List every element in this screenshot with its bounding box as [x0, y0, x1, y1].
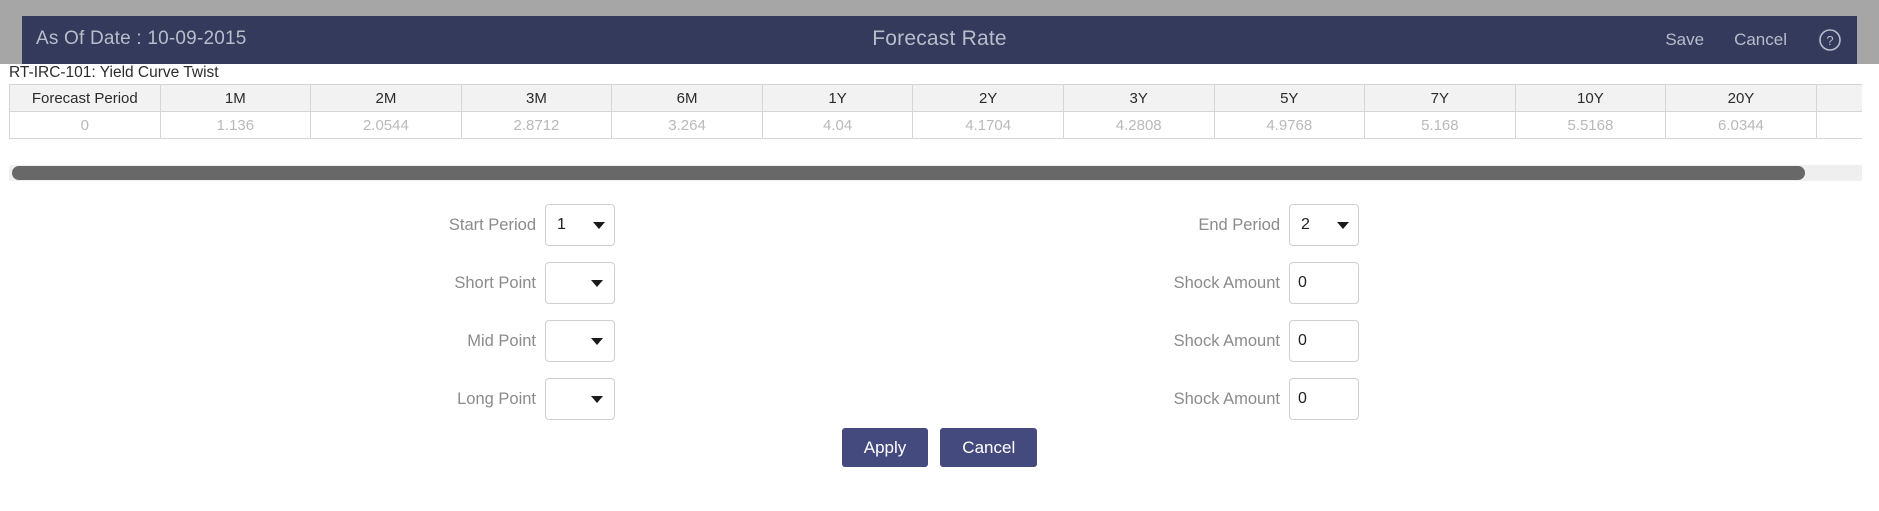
long-point-label: Long Point — [386, 390, 545, 409]
end-period-label: End Period — [1080, 216, 1289, 235]
cell-20y[interactable]: 6.0344 — [1666, 112, 1817, 139]
form-cancel-button[interactable]: Cancel — [940, 428, 1037, 467]
table-row[interactable]: 0 1.136 2.0544 2.8712 3.264 4.04 4.1704 … — [10, 112, 1863, 139]
chevron-down-icon — [591, 338, 603, 345]
shock-amount-mid-label: Shock Amount — [1080, 332, 1289, 351]
cell-5y[interactable]: 4.9768 — [1214, 112, 1365, 139]
table-header-row: Forecast Period 1M 2M 3M 6M 1Y 2Y 3Y 5Y … — [10, 85, 1863, 112]
rule-subtitle: RT-IRC-101: Yield Curve Twist — [9, 64, 219, 82]
save-button[interactable]: Save — [1665, 30, 1704, 50]
start-period-label: Start Period — [386, 216, 545, 235]
svg-text:?: ? — [1826, 33, 1833, 48]
field-row-shock-amount-long: Shock Amount — [1080, 370, 1359, 428]
field-row-end-period: End Period 2 — [1080, 196, 1359, 254]
shock-amount-mid-input[interactable] — [1298, 332, 1350, 350]
chevron-down-icon — [593, 222, 605, 229]
cell-7y[interactable]: 5.168 — [1365, 112, 1516, 139]
cell-3y[interactable]: 4.2808 — [1063, 112, 1214, 139]
short-point-select[interactable] — [545, 262, 615, 304]
column-header-1y: 1Y — [762, 85, 913, 112]
shock-amount-short-field[interactable] — [1289, 262, 1359, 304]
window-chrome-left — [0, 0, 22, 64]
field-row-long-point: Long Point — [386, 370, 615, 428]
cell-6m[interactable]: 3.264 — [612, 112, 763, 139]
end-period-value: 2 — [1301, 217, 1310, 233]
cell-1y[interactable]: 4.04 — [762, 112, 913, 139]
column-header-1m: 1M — [160, 85, 311, 112]
field-row-mid-point: Mid Point — [386, 312, 615, 370]
form-column-left: Start Period 1 Short Point Mid Point — [386, 196, 615, 428]
window-chrome-right — [1857, 0, 1879, 64]
column-header-20y: 20Y — [1666, 85, 1817, 112]
column-header-2m: 2M — [311, 85, 462, 112]
table-horizontal-scrollbar[interactable] — [9, 165, 1862, 181]
application-window: As Of Date : 10-09-2015 Forecast Rate Sa… — [0, 0, 1879, 511]
field-row-short-point: Short Point — [386, 254, 615, 312]
table-scrollbar-thumb[interactable] — [12, 166, 1805, 180]
start-period-select[interactable]: 1 — [545, 204, 615, 246]
title-bar-actions: Save Cancel ? — [1665, 16, 1843, 64]
shock-amount-short-label: Shock Amount — [1080, 274, 1289, 293]
window-chrome-top — [0, 0, 1879, 16]
field-row-start-period: Start Period 1 — [386, 196, 615, 254]
form-action-buttons: Apply Cancel — [0, 428, 1879, 467]
short-point-label: Short Point — [386, 274, 545, 293]
column-header-10y: 10Y — [1515, 85, 1666, 112]
column-header-3m: 3M — [461, 85, 612, 112]
shock-amount-long-input[interactable] — [1298, 390, 1350, 408]
twist-parameters-form: Start Period 1 Short Point Mid Point — [0, 196, 1879, 436]
shock-amount-mid-field[interactable] — [1289, 320, 1359, 362]
long-point-select[interactable] — [545, 378, 615, 420]
field-row-shock-amount-short: Shock Amount — [1080, 254, 1359, 312]
cell-2m[interactable]: 2.0544 — [311, 112, 462, 139]
chevron-down-icon — [591, 396, 603, 403]
column-header-forecast-period: Forecast Period — [10, 85, 161, 112]
column-header-3y: 3Y — [1063, 85, 1214, 112]
cell-3m[interactable]: 2.8712 — [461, 112, 612, 139]
mid-point-label: Mid Point — [386, 332, 545, 351]
cancel-button[interactable]: Cancel — [1734, 30, 1787, 50]
cell-10y[interactable]: 5.5168 — [1515, 112, 1666, 139]
cell-overflow — [1816, 112, 1862, 139]
cell-forecast-period[interactable]: 0 — [10, 112, 161, 139]
end-period-select[interactable]: 2 — [1289, 204, 1359, 246]
title-bar: As Of Date : 10-09-2015 Forecast Rate Sa… — [22, 16, 1857, 64]
cell-1m[interactable]: 1.136 — [160, 112, 311, 139]
help-icon[interactable]: ? — [1817, 27, 1843, 53]
forecast-rate-table: Forecast Period 1M 2M 3M 6M 1Y 2Y 3Y 5Y … — [9, 84, 1862, 139]
mid-point-select[interactable] — [545, 320, 615, 362]
column-header-7y: 7Y — [1365, 85, 1516, 112]
shock-amount-short-input[interactable] — [1298, 274, 1350, 292]
forecast-rate-table-container: Forecast Period 1M 2M 3M 6M 1Y 2Y 3Y 5Y … — [9, 84, 1862, 140]
start-period-value: 1 — [557, 217, 566, 233]
apply-button[interactable]: Apply — [842, 428, 929, 467]
field-row-shock-amount-mid: Shock Amount — [1080, 312, 1359, 370]
chevron-down-icon — [1337, 222, 1349, 229]
column-header-overflow — [1816, 85, 1862, 112]
page-title: Forecast Rate — [22, 27, 1857, 51]
column-header-2y: 2Y — [913, 85, 1064, 112]
shock-amount-long-label: Shock Amount — [1080, 390, 1289, 409]
form-column-right: End Period 2 Shock Amount Shock Amount — [1080, 196, 1359, 428]
shock-amount-long-field[interactable] — [1289, 378, 1359, 420]
column-header-6m: 6M — [612, 85, 763, 112]
column-header-5y: 5Y — [1214, 85, 1365, 112]
chevron-down-icon — [591, 280, 603, 287]
cell-2y[interactable]: 4.1704 — [913, 112, 1064, 139]
